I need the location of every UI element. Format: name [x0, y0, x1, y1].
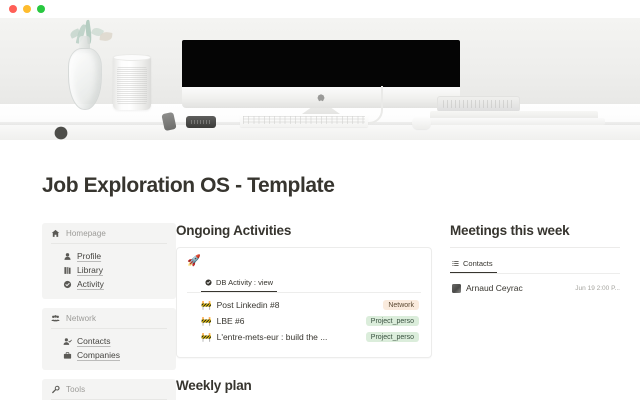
book-icon	[63, 266, 72, 275]
meetings-divider	[450, 247, 620, 248]
window-close-button[interactable]	[9, 5, 17, 13]
construction-icon: 🚧	[201, 333, 212, 342]
sidebar-item-label: Profile	[77, 251, 101, 261]
check-circle-icon	[63, 280, 72, 289]
window-maximize-button[interactable]	[37, 5, 45, 13]
smartphone-detail	[191, 120, 211, 124]
smart-speaker-top	[113, 54, 151, 61]
construction-icon: 🚧	[201, 301, 212, 310]
construction-icon: 🚧	[201, 317, 212, 326]
sidebar-item-label: Activity	[77, 279, 104, 289]
table-row[interactable]: 🚧 LBE #6 Project_perso	[187, 313, 421, 329]
list-icon	[452, 260, 459, 267]
row-title: Post Linkedin #8	[217, 300, 378, 310]
imac-display	[182, 40, 460, 87]
sidebar-item-label: Library	[77, 265, 103, 275]
contacts-tab-divider	[450, 273, 620, 274]
sidebar-item-profile[interactable]: Profile	[51, 249, 167, 263]
status-badge: Project_perso	[366, 316, 419, 326]
wrench-icon	[51, 385, 60, 394]
nav-header-label: Tools	[66, 385, 85, 394]
cover-scene	[0, 18, 640, 140]
tab-db-activity-view[interactable]: DB Activity : view	[201, 278, 277, 292]
contact-thumbnail-icon	[452, 284, 461, 293]
sidebar-item-contacts[interactable]: Contacts	[51, 334, 167, 348]
weekly-plan-title: Weekly plan	[176, 378, 432, 393]
sidebar-nav: Homepage Profile Library	[42, 223, 176, 400]
person-check-icon	[63, 337, 72, 346]
nav-block-homepage: Homepage Profile Library	[42, 223, 176, 299]
table-row[interactable]: 🚧 L'entre-mets-eur : build the ... Proje…	[187, 329, 421, 345]
tab-label: DB Activity : view	[216, 278, 273, 287]
nav-header-homepage[interactable]: Homepage	[51, 229, 167, 244]
contact-name: Arnaud Ceyrac	[466, 283, 575, 293]
list-item[interactable]: Arnaud Ceyrac Jun 19 2:00 P...	[450, 279, 620, 297]
keyboard-keys	[243, 116, 365, 124]
meeting-date: Jun 19 2:00 P...	[575, 285, 620, 292]
rocket-icon: 🚀	[187, 256, 421, 267]
page-avatar-icon[interactable]	[44, 122, 78, 140]
table-row[interactable]: 🚧 Post Linkedin #8 Network	[187, 297, 421, 313]
sidebar-item-library[interactable]: Library	[51, 263, 167, 277]
window-minimize-button[interactable]	[23, 5, 31, 13]
window-titlebar	[0, 0, 640, 18]
sidebar-item-label: Companies	[77, 350, 120, 360]
smart-speaker-grille	[117, 67, 147, 104]
page-body: Job Exploration OS - Template Homepage P	[0, 140, 640, 400]
page-columns: Homepage Profile Library	[0, 198, 640, 400]
nav-block-network: Network Contacts Companies	[42, 308, 176, 370]
page-title: Job Exploration OS - Template	[0, 140, 640, 198]
meetings-title: Meetings this week	[450, 223, 620, 238]
db-tab-divider	[187, 292, 421, 293]
tab-contacts[interactable]: Contacts	[450, 259, 497, 273]
nav-header-tools[interactable]: Tools	[51, 385, 167, 400]
filled-circle-check-icon	[205, 279, 212, 286]
row-title: L'entre-mets-eur : build the ...	[217, 332, 360, 342]
page-cover-image[interactable]	[0, 18, 640, 140]
main-column: Ongoing Activities 🚀 DB Activity : view …	[176, 223, 450, 400]
status-badge: Project_perso	[366, 332, 419, 342]
ongoing-activities-title: Ongoing Activities	[176, 223, 432, 238]
sidebar-item-companies[interactable]: Companies	[51, 348, 167, 362]
home-icon	[51, 229, 60, 238]
briefcase-icon	[63, 351, 72, 360]
nav-header-label: Homepage	[66, 229, 106, 238]
nav-header-label: Network	[66, 314, 96, 323]
nav-block-tools: Tools Stack	[42, 379, 176, 400]
sidebar-item-activity[interactable]: Activity	[51, 277, 167, 291]
sidebar-item-label: Contacts	[77, 336, 111, 346]
status-badge: Network	[383, 300, 419, 310]
person-icon	[63, 252, 72, 261]
laptop-screen	[443, 100, 514, 108]
people-group-icon	[51, 314, 60, 323]
tab-label: Contacts	[463, 259, 493, 268]
desk-tray	[425, 118, 605, 125]
ongoing-activities-card: 🚀 DB Activity : view 🚧 Post Linkedin #8 …	[176, 247, 432, 358]
nav-header-network[interactable]: Network	[51, 314, 167, 329]
row-title: LBE #6	[217, 316, 360, 326]
right-column: Meetings this week Contacts	[450, 223, 620, 400]
mouse	[412, 115, 431, 129]
